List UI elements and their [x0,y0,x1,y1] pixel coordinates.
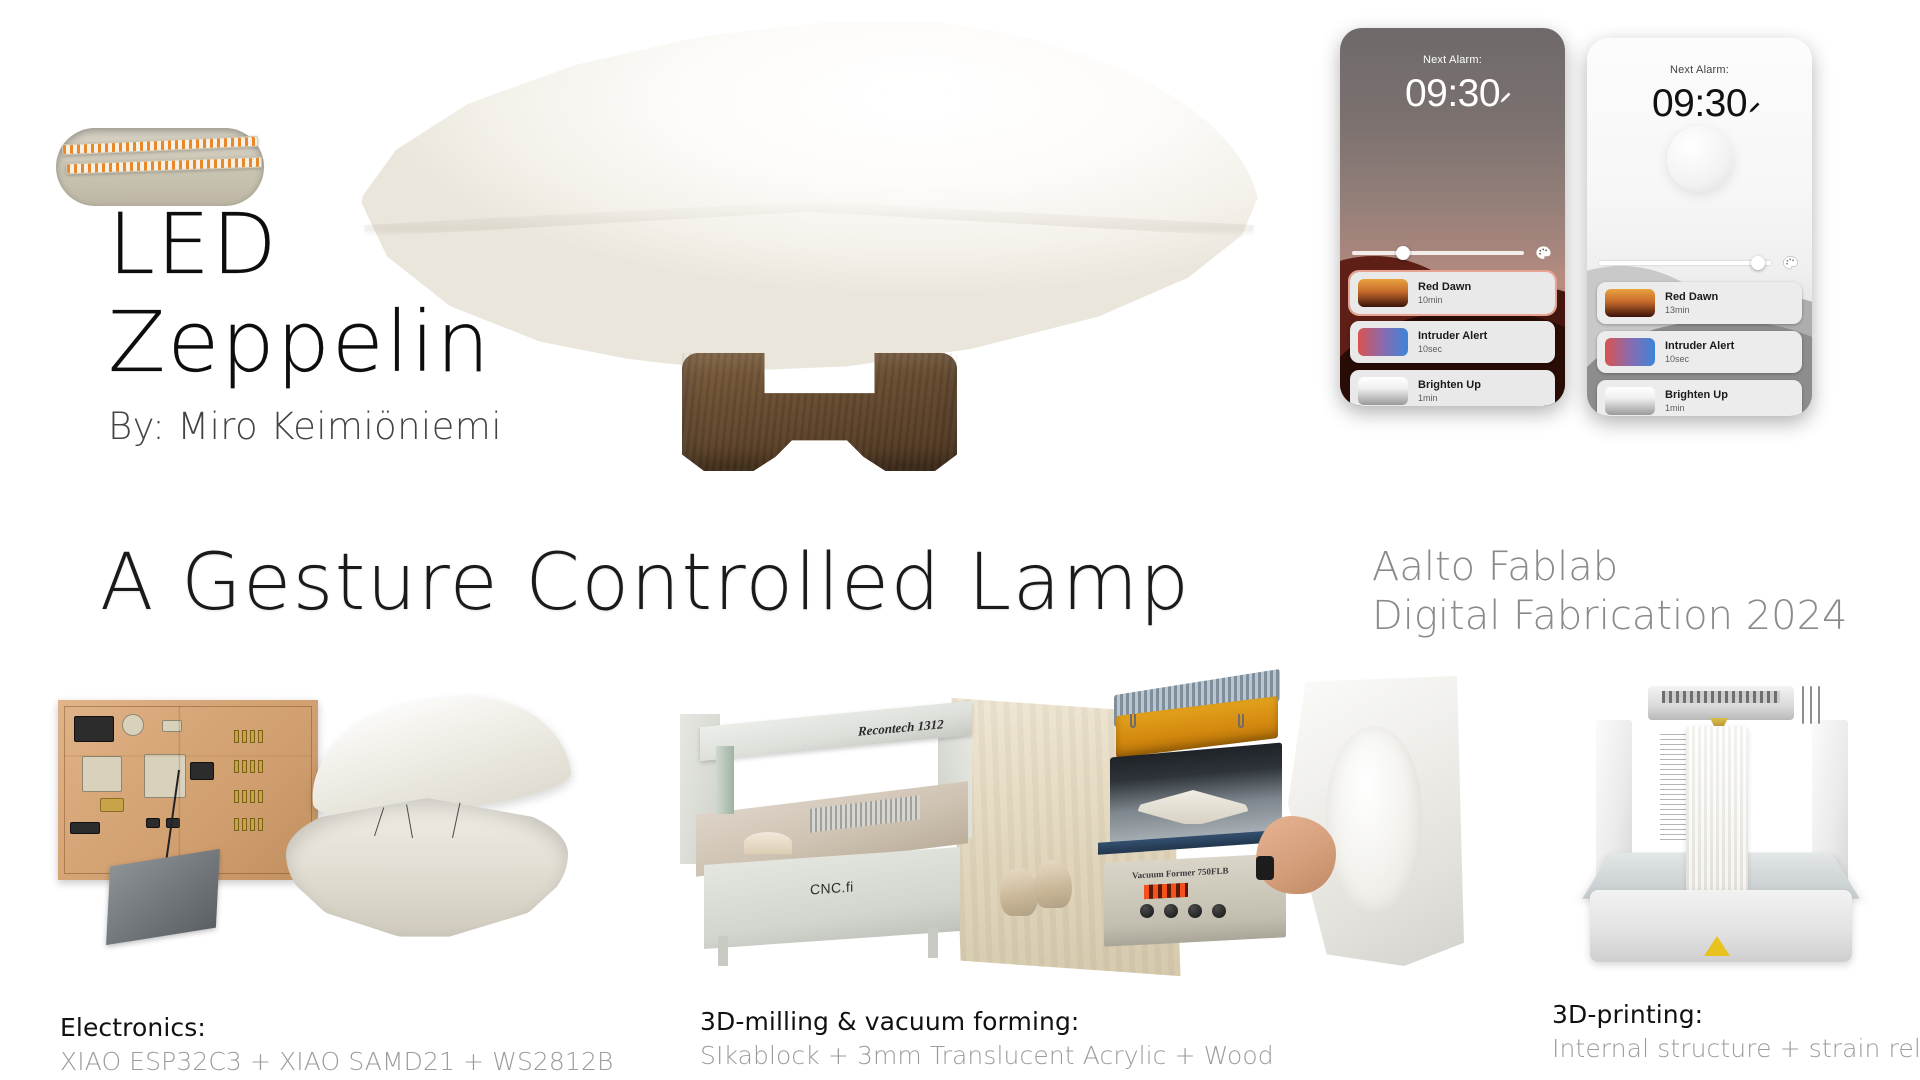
slider-knob[interactable] [1396,246,1410,260]
cnc-spindle [716,746,734,814]
pcb-module-esp32c3 [144,754,186,798]
preset-name: Brighten Up [1665,389,1728,402]
pencil-icon[interactable] [1747,100,1762,115]
title-line-1: LED [108,205,502,285]
heater-handle[interactable] [1130,714,1136,728]
caption-title: 3D-printing: [1552,1000,1920,1029]
control-knob[interactable] [1212,904,1226,918]
caption-subtitle: SIkablock + 3mm Translucent Acrylic + Wo… [700,1041,1274,1070]
phone-mockups: Next Alarm: 09:30 [1340,28,1840,418]
preset-card[interactable]: Red Dawn 10min [1350,272,1555,314]
lamp-highlight [800,35,1030,155]
credit-course: Digital Fabrication 2024 [1372,592,1848,641]
pcb-ic [190,762,214,780]
pcb-module-samd21 [82,756,122,792]
control-knob[interactable] [1164,904,1178,918]
palette-icon[interactable] [1534,244,1553,263]
preset-card[interactable]: Intruder Alert 10sec [1350,321,1555,363]
pcb-usb-connector [100,798,124,812]
next-alarm-label: Next Alarm: [1340,54,1565,66]
3d-printer-photo [1582,668,1862,978]
heater-indicator-leds [1144,883,1188,899]
slider-knob[interactable] [1751,256,1765,270]
caption-subtitle: XIAO ESP32C3 + XIAO SAMD21 + WS2812B [60,1047,613,1076]
caption-title: Electronics: [60,1013,613,1042]
pcb-pin-header [234,818,263,831]
preset-card[interactable]: Brighten Up 1min [1597,380,1802,416]
control-knob[interactable] [1188,904,1202,918]
phone-mockup-light: Next Alarm: 09:30 [1587,38,1812,416]
pcb-component [162,720,182,732]
lamp-wooden-base [682,353,957,471]
preset-list-dark: Red Dawn 10min Intruder Alert 10sec [1350,272,1555,406]
preset-name: Red Dawn [1418,281,1471,294]
caption-subtitle: Internal structure + strain relief [1552,1034,1920,1063]
pcb-component [146,818,160,828]
credit-organization: Aalto Fablab [1372,543,1848,592]
next-alarm-time: 09:30 [1587,82,1812,126]
slider-track[interactable] [1352,251,1524,255]
preset-duration: 10sec [1418,344,1487,354]
caption-title: 3D-milling & vacuum forming: [700,1007,1274,1036]
pcb-component [70,822,100,834]
preset-name: Intruder Alert [1418,330,1487,343]
cnc-cabinet [704,847,960,949]
milled-mold-pieces [1000,860,1090,930]
print-support-material [1660,730,1686,840]
opened-lamp-assembly [268,700,568,950]
author-byline: By: Miro Keimiöniemi [108,405,502,448]
caption-milling-forming: 3D-milling & vacuum forming: SIkablock +… [700,1007,1274,1070]
preset-duration: 10min [1418,295,1471,305]
title-block: LED Zeppelin By: Miro Keimiöniemi [108,205,502,448]
lamp-lower-shell [286,798,568,938]
control-knob[interactable] [1140,904,1154,918]
pcb-capacitor [122,714,144,736]
pcb-pin-header [234,790,263,803]
brightness-slider[interactable] [1352,244,1553,262]
cnc-leg [928,928,938,958]
preset-duration: 13min [1665,305,1718,315]
preset-card[interactable]: Brighten Up 1min [1350,370,1555,406]
formed-lamp-dome [1326,726,1422,912]
cnc-brand-label: CNC.fi [810,878,854,897]
printed-internal-structure [1686,726,1748,908]
cnc-router-machine: Recontech 1312 CNC.fi [660,690,990,980]
preset-color-swatch [1605,387,1655,415]
milled-foam-workpiece [744,832,792,854]
caption-electronics: Electronics: XIAO ESP32C3 + XIAO SAMD21 … [60,1013,613,1076]
app-screen-dark-theme: Next Alarm: 09:30 [1340,28,1565,406]
brightness-slider[interactable] [1599,254,1800,272]
phone-mockup-dark: Next Alarm: 09:30 [1340,28,1565,406]
preset-duration: 1min [1418,393,1481,403]
preset-name: Intruder Alert [1665,340,1734,353]
credit-block: Aalto Fablab Digital Fabrication 2024 [1372,543,1848,641]
poster-canvas: LED Zeppelin By: Miro Keimiöniemi A Gest… [0,0,1920,1080]
antenna-pad [106,849,220,945]
preset-list-light: Red Dawn 13min Intruder Alert 10sec [1597,282,1802,416]
app-screen-light-theme: Next Alarm: 09:30 [1587,38,1812,416]
preset-card[interactable]: Red Dawn 13min [1597,282,1802,324]
preset-color-swatch [1605,289,1655,317]
filament-tubes [1802,686,1836,724]
sun-graphic [1667,126,1733,192]
pcb-pin-header [234,730,263,743]
preset-name: Red Dawn [1665,291,1718,304]
preset-card[interactable]: Intruder Alert 10sec [1597,331,1802,373]
caption-3d-printing: 3D-printing: Internal structure + strain… [1552,1000,1920,1063]
preset-name: Brighten Up [1418,379,1481,392]
hand-holding-sheet [1256,816,1336,894]
heater-handle[interactable] [1238,714,1244,728]
pcb-component [74,716,114,742]
title-line-2: Zeppelin [108,303,502,383]
preset-color-swatch [1358,377,1408,405]
cnc-leg [718,936,728,966]
slider-track[interactable] [1599,261,1771,265]
next-alarm-time: 09:30 [1340,72,1565,116]
preset-color-swatch [1358,279,1408,307]
printer-print-head [1648,686,1794,720]
next-alarm-label: Next Alarm: [1587,64,1812,76]
preset-duration: 10sec [1665,354,1734,364]
palette-icon[interactable] [1781,254,1800,273]
wristwatch [1256,856,1274,880]
mold-piece [1000,868,1038,916]
page-subtitle: A Gesture Controlled Lamp [100,538,1191,628]
preset-duration: 1min [1665,403,1728,413]
mold-piece [1034,860,1072,908]
pcb-pin-header [234,760,263,773]
preset-color-swatch [1358,328,1408,356]
preset-color-swatch [1605,338,1655,366]
pencil-icon[interactable] [1498,90,1513,105]
